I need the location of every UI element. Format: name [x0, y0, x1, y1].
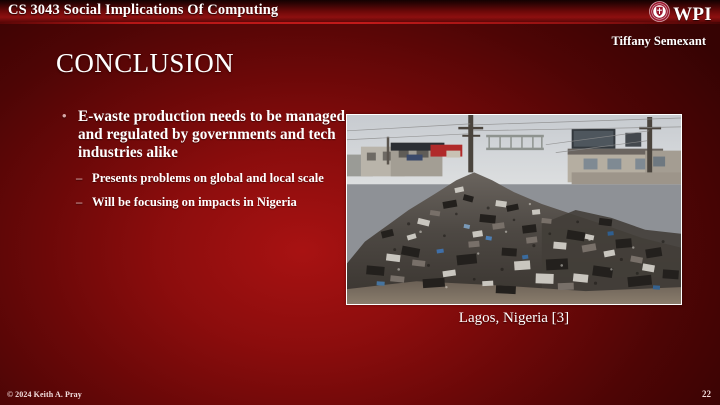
slide-image-frame — [346, 114, 682, 305]
bullet-marker-icon: • — [62, 108, 67, 124]
author-name: Tiffany Semexant — [611, 34, 706, 49]
sub-bullet-text: Presents problems on global and local sc… — [92, 171, 324, 185]
bullet-item-primary: • E-waste production needs to be managed… — [58, 108, 348, 162]
bullet-list: • E-waste production needs to be managed… — [58, 108, 348, 218]
ewaste-photo — [347, 115, 681, 304]
presentation-slide: CS 3043 Social Implications Of Computing… — [0, 0, 720, 405]
sub-bullet-item: – Will be focusing on impacts in Nigeria — [76, 195, 348, 210]
copyright-notice: © 2024 Keith A. Pray — [7, 390, 82, 399]
sub-bullet-item: – Presents problems on global and local … — [76, 171, 348, 186]
dash-marker-icon: – — [76, 171, 82, 186]
dash-marker-icon: – — [76, 195, 82, 210]
course-title: CS 3043 Social Implications Of Computing — [8, 2, 278, 19]
bullet-text: E-waste production needs to be managed a… — [78, 108, 345, 161]
sub-bullet-text: Will be focusing on impacts in Nigeria — [92, 195, 297, 209]
wpi-logo: WPI — [649, 1, 712, 27]
sub-bullet-list: – Presents problems on global and local … — [58, 171, 348, 210]
slide-title: CONCLUSION — [56, 48, 234, 79]
slide-header-bar: CS 3043 Social Implications Of Computing… — [0, 0, 720, 22]
image-caption: Lagos, Nigeria [3] — [346, 310, 682, 327]
wpi-seal-icon — [649, 1, 670, 27]
page-number: 22 — [702, 389, 711, 399]
wpi-wordmark: WPI — [673, 5, 712, 24]
